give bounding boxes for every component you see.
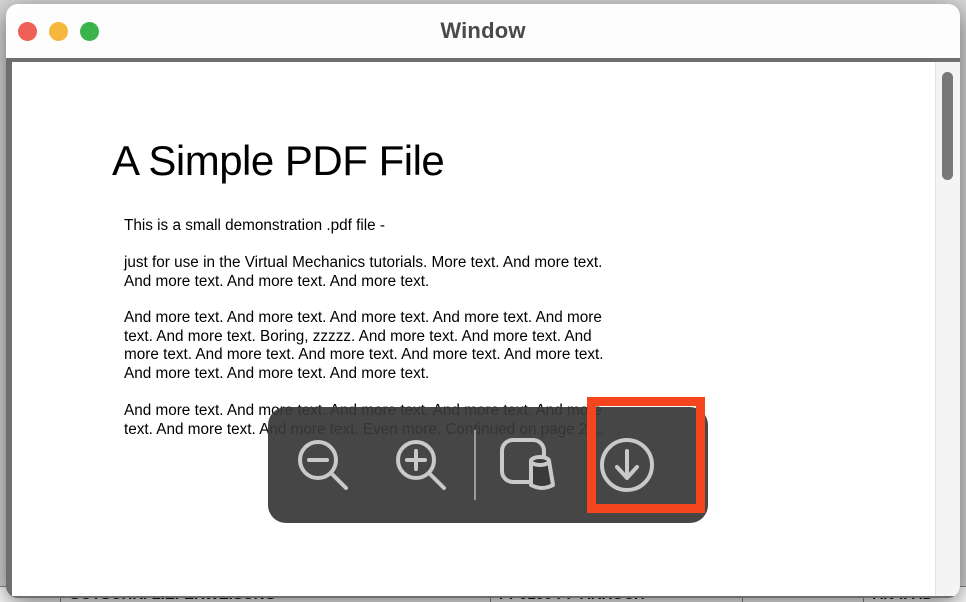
download-arrow-circle-icon bbox=[596, 434, 658, 496]
pdf-paragraph: just for use in the Virtual Mechanics tu… bbox=[124, 254, 624, 291]
quick-look-toolbar bbox=[268, 407, 708, 523]
scrollbar-thumb[interactable] bbox=[942, 72, 953, 180]
document-viewport[interactable]: A Simple PDF File This is a small demons… bbox=[12, 62, 936, 596]
vertical-scrollbar[interactable] bbox=[935, 62, 960, 596]
pdf-page: A Simple PDF File This is a small demons… bbox=[12, 62, 936, 596]
quick-look-window: Window A Simple PDF File This is a small… bbox=[6, 4, 960, 598]
window-content-frame: A Simple PDF File This is a small demons… bbox=[6, 58, 960, 598]
pdf-paragraph: And more text. And more text. And more t… bbox=[124, 309, 624, 383]
markup-pen-icon bbox=[497, 435, 561, 495]
window-title: Window bbox=[6, 4, 960, 58]
toolbar-divider bbox=[474, 430, 476, 500]
magnifier-plus-icon bbox=[390, 434, 452, 496]
window-titlebar: Window bbox=[6, 4, 960, 58]
magnifier-minus-icon bbox=[292, 434, 354, 496]
zoom-in-button[interactable] bbox=[372, 419, 470, 511]
pdf-heading: A Simple PDF File bbox=[112, 137, 444, 185]
markup-button[interactable] bbox=[480, 419, 578, 511]
download-button[interactable] bbox=[578, 419, 676, 511]
pdf-paragraph: This is a small demonstration .pdf file … bbox=[124, 217, 624, 236]
zoom-out-button[interactable] bbox=[274, 419, 372, 511]
